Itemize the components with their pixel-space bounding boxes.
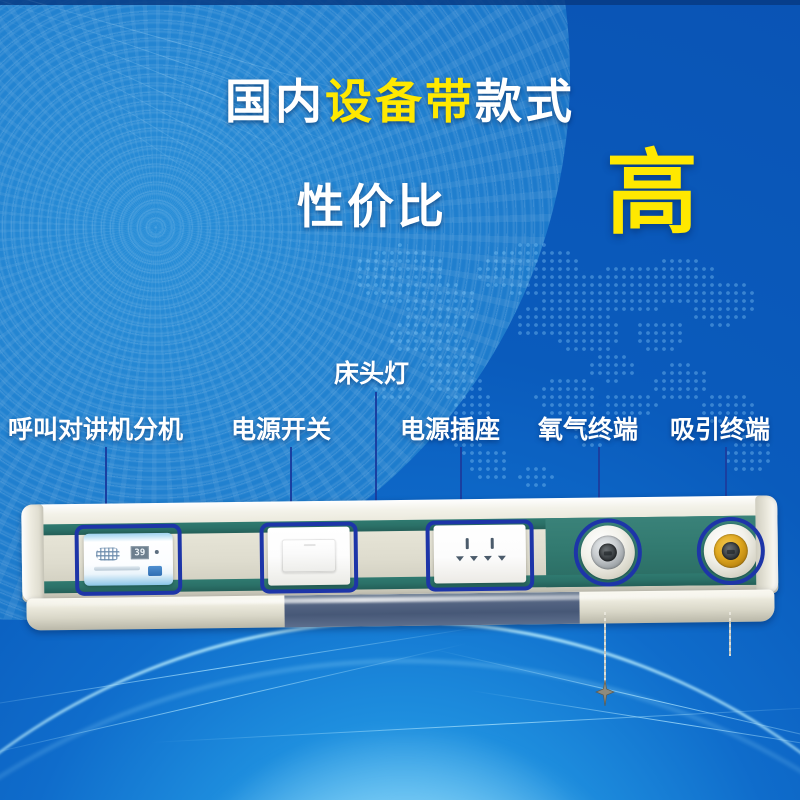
cord-weight-icon <box>595 680 615 706</box>
status-led-icon <box>155 550 159 554</box>
callout-label-power-socket: 电源插座 <box>400 418 500 443</box>
headline-run-2: 款式 <box>475 75 575 128</box>
wall-rocker-switch[interactable] <box>268 527 351 586</box>
intercom-call-button[interactable] <box>148 566 162 576</box>
nurse-call-intercom[interactable]: 39 <box>84 533 174 586</box>
callout-label-call-intercom: 呼叫对讲机分机 <box>8 418 183 443</box>
headline-block: 国内设备带款式 <box>0 78 800 125</box>
headline-accent-char: 高 <box>606 148 698 240</box>
headline-run-1: 设备带 <box>325 75 475 128</box>
universal-power-socket[interactable] <box>434 524 527 583</box>
callout-label-oxygen-outlet: 氧气终端 <box>538 418 638 443</box>
horizon-glow-core <box>120 700 690 800</box>
callout-label-power-switch: 电源开关 <box>231 418 331 443</box>
socket-pin-icon <box>491 538 494 549</box>
socket-slot-icon <box>498 556 506 561</box>
callout-label-suction-outlet: 吸引终端 <box>670 418 770 443</box>
headline-run-0: 国内 <box>225 75 325 128</box>
callout-label-bed-lamp: 床头灯 <box>334 362 409 387</box>
oxygen-outlet-cord <box>604 612 606 690</box>
socket-slot-icon <box>470 556 478 561</box>
panel-end-cap-left <box>21 504 44 602</box>
intercom-display: 39 <box>131 546 149 559</box>
panel-body: 39 <box>21 495 778 602</box>
headline-line-2: 性价比 <box>297 168 447 237</box>
speaker-grille-icon <box>96 547 120 560</box>
intercom-slot <box>94 566 140 571</box>
outlet-keyway-icon <box>604 551 612 555</box>
poster-stage: 国内设备带款式 性价比 高 呼叫对讲机分机电源开关床头灯电源插座氧气终端吸引终端… <box>0 0 800 800</box>
socket-face <box>454 538 508 570</box>
headline-line-2-row: 性价比 高 <box>0 160 800 240</box>
rocker-nick <box>304 544 316 546</box>
panel-end-cap-right <box>755 495 778 593</box>
socket-slot-icon <box>456 556 464 561</box>
socket-slot-icon <box>484 556 492 561</box>
rocker-paddle[interactable] <box>282 539 336 573</box>
outlet-keyway-icon <box>727 550 735 554</box>
socket-pin-icon <box>466 538 469 549</box>
suction-gas-outlet[interactable] <box>704 524 759 579</box>
suction-outlet-cord <box>729 612 731 656</box>
medical-bed-head-unit: 39 <box>21 495 779 636</box>
headline-line-1: 国内设备带款式 <box>0 78 800 125</box>
oxygen-gas-outlet[interactable] <box>581 525 636 580</box>
